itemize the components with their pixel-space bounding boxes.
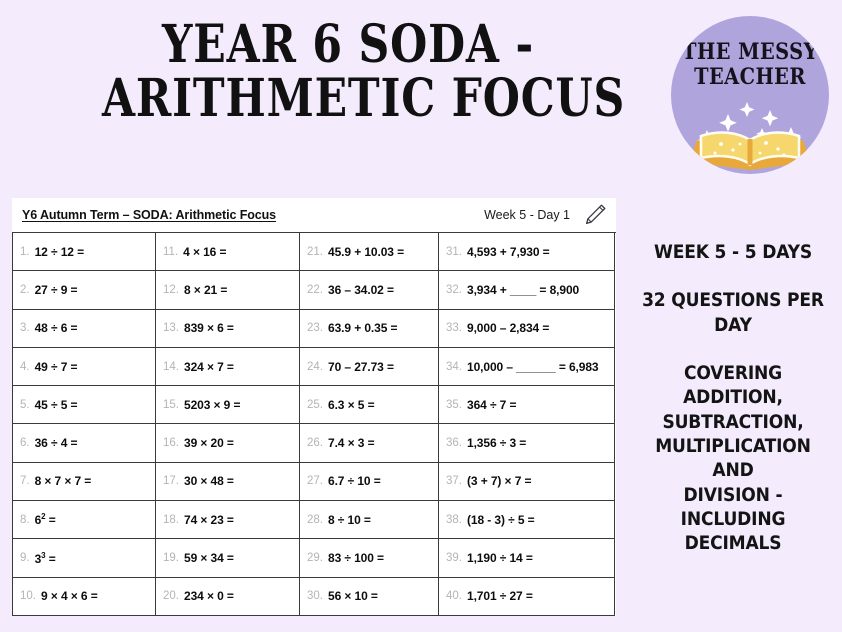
question-cell[interactable]: 17.30 × 48 = xyxy=(156,463,300,501)
question-number: 26. xyxy=(307,437,323,449)
worksheet-week-day: Week 5 - Day 1 xyxy=(484,208,582,222)
question-cell[interactable]: 40.1,701 ÷ 27 = xyxy=(439,578,615,616)
question-text: 6.3 × 5 = xyxy=(328,398,374,412)
page-title-line-2: Arithmetic Focus xyxy=(102,72,594,126)
question-grid: 1.12 ÷ 12 =11.4 × 16 =21.45.9 + 10.03 =3… xyxy=(12,232,616,616)
logo-text-line-2: Teacher xyxy=(680,65,819,90)
sidebar-line: Including Decimals xyxy=(635,507,831,556)
question-text: 8 × 7 × 7 = xyxy=(35,474,92,488)
question-number: 2. xyxy=(20,284,30,296)
question-text: (18 - 3) ÷ 5 = xyxy=(467,513,535,527)
question-cell[interactable]: 6.36 ÷ 4 = xyxy=(13,424,156,462)
sidebar-block: Covering Addition,Subtraction,Multiplica… xyxy=(624,361,842,556)
question-cell[interactable]: 21.45.9 + 10.03 = xyxy=(300,233,439,271)
question-number: 40. xyxy=(446,590,462,602)
question-cell[interactable]: 15.5203 × 9 = xyxy=(156,386,300,424)
question-text: 10,000 – ______ = 6,983 xyxy=(467,360,599,374)
question-cell[interactable]: 38.(18 - 3) ÷ 5 = xyxy=(439,501,615,539)
question-number: 24. xyxy=(307,361,323,373)
question-text: (3 + 7) × 7 = xyxy=(467,474,531,488)
question-cell[interactable]: 11.4 × 16 = xyxy=(156,233,300,271)
question-text: 839 × 6 = xyxy=(184,321,234,335)
question-text: 3,934 + ____ = 8,900 xyxy=(467,283,579,297)
question-number: 11. xyxy=(163,246,178,258)
question-text: 9 × 4 × 6 = xyxy=(41,589,98,603)
question-text: 8 ÷ 10 = xyxy=(328,513,371,527)
question-text: 33 = xyxy=(35,551,56,566)
question-text: 62 = xyxy=(35,512,56,527)
question-text: 1,356 ÷ 3 = xyxy=(467,436,526,450)
sidebar-line: Division - xyxy=(635,483,831,507)
question-text: 74 × 23 = xyxy=(184,513,234,527)
question-number: 25. xyxy=(307,399,323,411)
question-number: 22. xyxy=(307,284,323,296)
question-cell[interactable]: 14.324 × 7 = xyxy=(156,348,300,386)
question-number: 37. xyxy=(446,475,462,487)
question-number: 3. xyxy=(20,322,30,334)
question-text: 364 ÷ 7 = xyxy=(467,398,516,412)
sidebar-line: Week 5 - 5 Days xyxy=(635,240,831,264)
question-number: 34. xyxy=(446,361,462,373)
question-number: 31. xyxy=(446,246,462,258)
question-number: 39. xyxy=(446,552,462,564)
question-number: 18. xyxy=(163,514,179,526)
worksheet-title: Y6 Autumn Term – SODA: Arithmetic Focus xyxy=(22,208,276,222)
sidebar-line: Covering Addition, xyxy=(635,361,831,410)
question-cell[interactable]: 30.56 × 10 = xyxy=(300,578,439,616)
question-cell[interactable]: 23.63.9 + 0.35 = xyxy=(300,310,439,348)
question-number: 28. xyxy=(307,514,323,526)
question-text: 4 × 16 = xyxy=(183,245,226,259)
question-cell[interactable]: 2.27 ÷ 9 = xyxy=(13,271,156,309)
question-number: 36. xyxy=(446,437,462,449)
question-text: 6.7 ÷ 10 = xyxy=(328,474,381,488)
question-text: 30 × 48 = xyxy=(184,474,234,488)
page-title-line-1: Year 6 SODA - xyxy=(102,18,594,72)
question-cell[interactable]: 26.7.4 × 3 = xyxy=(300,424,439,462)
question-number: 15. xyxy=(163,399,179,411)
question-cell[interactable]: 16.39 × 20 = xyxy=(156,424,300,462)
question-text: 45.9 + 10.03 = xyxy=(328,245,404,259)
question-cell[interactable]: 33.9,000 – 2,834 = xyxy=(439,310,615,348)
question-cell[interactable]: 19.59 × 34 = xyxy=(156,539,300,577)
question-number: 33. xyxy=(446,322,462,334)
question-cell[interactable]: 34.10,000 – ______ = 6,983 xyxy=(439,348,615,386)
question-text: 5203 × 9 = xyxy=(184,398,240,412)
question-text: 9,000 – 2,834 = xyxy=(467,321,549,335)
sidebar-line: Multiplication and xyxy=(635,434,831,483)
question-text: 48 ÷ 6 = xyxy=(35,321,78,335)
question-text: 70 – 27.73 = xyxy=(328,360,394,374)
question-cell[interactable]: 4.49 ÷ 7 = xyxy=(13,348,156,386)
question-text: 1,190 ÷ 14 = xyxy=(467,551,533,565)
question-cell[interactable]: 27.6.7 ÷ 10 = xyxy=(300,463,439,501)
question-cell[interactable]: 29.83 ÷ 100 = xyxy=(300,539,439,577)
worksheet-header: Y6 Autumn Term – SODA: Arithmetic Focus … xyxy=(12,198,616,232)
question-number: 1. xyxy=(20,246,30,258)
question-cell[interactable]: 8.62 = xyxy=(13,501,156,539)
sidebar-line: Subtraction, xyxy=(635,410,831,434)
sidebar-block: 32 Questions perDay xyxy=(624,288,842,337)
question-cell[interactable]: 9.33 = xyxy=(13,539,156,577)
question-cell[interactable]: 1.12 ÷ 12 = xyxy=(13,233,156,271)
question-number: 17. xyxy=(163,475,179,487)
question-number: 5. xyxy=(20,399,30,411)
question-cell[interactable]: 36.1,356 ÷ 3 = xyxy=(439,424,615,462)
question-number: 27. xyxy=(307,475,323,487)
question-number: 23. xyxy=(307,322,323,334)
question-cell[interactable]: 31.4,593 + 7,930 = xyxy=(439,233,615,271)
sidebar-copy: Week 5 - 5 Days32 Questions perDayCoveri… xyxy=(624,240,842,555)
question-cell[interactable]: 7.8 × 7 × 7 = xyxy=(13,463,156,501)
question-number: 32. xyxy=(446,284,462,296)
question-number: 30. xyxy=(307,590,323,602)
question-number: 14. xyxy=(163,361,179,373)
question-cell[interactable]: 10.9 × 4 × 6 = xyxy=(13,578,156,616)
question-text: 12 ÷ 12 = xyxy=(35,245,84,259)
question-text: 83 ÷ 100 = xyxy=(328,551,384,565)
question-cell[interactable]: 13.839 × 6 = xyxy=(156,310,300,348)
question-number: 12. xyxy=(163,284,179,296)
question-number: 13. xyxy=(163,322,179,334)
question-cell[interactable]: 24.70 – 27.73 = xyxy=(300,348,439,386)
question-cell[interactable]: 20.234 × 0 = xyxy=(156,578,300,616)
question-cell[interactable]: 25.6.3 × 5 = xyxy=(300,386,439,424)
question-text: 59 × 34 = xyxy=(184,551,234,565)
logo-text: The Messy Teacher xyxy=(680,40,819,89)
question-cell[interactable]: 5.45 ÷ 5 = xyxy=(13,386,156,424)
the-messy-teacher-logo: The Messy Teacher xyxy=(671,16,829,174)
question-cell[interactable]: 18.74 × 23 = xyxy=(156,501,300,539)
pencil-icon xyxy=(582,202,608,228)
question-text: 63.9 + 0.35 = xyxy=(328,321,397,335)
question-cell[interactable]: 22.36 – 34.02 = xyxy=(300,271,439,309)
question-cell[interactable]: 37.(3 + 7) × 7 = xyxy=(439,463,615,501)
question-number: 38. xyxy=(446,514,462,526)
question-number: 29. xyxy=(307,552,323,564)
logo-text-line-1: The Messy xyxy=(680,40,819,65)
question-number: 19. xyxy=(163,552,179,564)
question-number: 7. xyxy=(20,475,30,487)
question-cell[interactable]: 35.364 ÷ 7 = xyxy=(439,386,615,424)
question-text: 234 × 0 = xyxy=(184,589,234,603)
question-text: 4,593 + 7,930 = xyxy=(467,245,550,259)
question-text: 1,701 ÷ 27 = xyxy=(467,589,533,603)
question-text: 27 ÷ 9 = xyxy=(35,283,78,297)
question-text: 36 – 34.02 = xyxy=(328,283,394,297)
question-cell[interactable]: 12.8 × 21 = xyxy=(156,271,300,309)
question-cell[interactable]: 28.8 ÷ 10 = xyxy=(300,501,439,539)
sidebar-line: Day xyxy=(635,313,831,337)
question-text: 39 × 20 = xyxy=(184,436,234,450)
question-text: 7.4 × 3 = xyxy=(328,436,374,450)
question-cell[interactable]: 32.3,934 + ____ = 8,900 xyxy=(439,271,615,309)
question-number: 8. xyxy=(20,514,30,526)
open-book-with-stars-icon xyxy=(671,96,829,170)
question-cell[interactable]: 3.48 ÷ 6 = xyxy=(13,310,156,348)
question-text: 45 ÷ 5 = xyxy=(35,398,78,412)
sidebar-block: Week 5 - 5 Days xyxy=(624,240,842,264)
question-number: 35. xyxy=(446,399,462,411)
question-number: 6. xyxy=(20,437,30,449)
question-number: 9. xyxy=(20,552,30,564)
question-text: 324 × 7 = xyxy=(184,360,234,374)
question-number: 21. xyxy=(307,246,323,258)
page-title: Year 6 SODA - Arithmetic Focus xyxy=(48,18,648,125)
question-cell[interactable]: 39.1,190 ÷ 14 = xyxy=(439,539,615,577)
worksheet-card: Y6 Autumn Term – SODA: Arithmetic Focus … xyxy=(12,198,616,616)
question-number: 16. xyxy=(163,437,179,449)
sidebar-line: 32 Questions per xyxy=(635,288,831,312)
question-number: 4. xyxy=(20,361,30,373)
question-text: 8 × 21 = xyxy=(184,283,227,297)
question-text: 36 ÷ 4 = xyxy=(35,436,78,450)
question-text: 56 × 10 = xyxy=(328,589,378,603)
question-text: 49 ÷ 7 = xyxy=(35,360,78,374)
question-number: 10. xyxy=(20,590,36,602)
question-number: 20. xyxy=(163,590,179,602)
